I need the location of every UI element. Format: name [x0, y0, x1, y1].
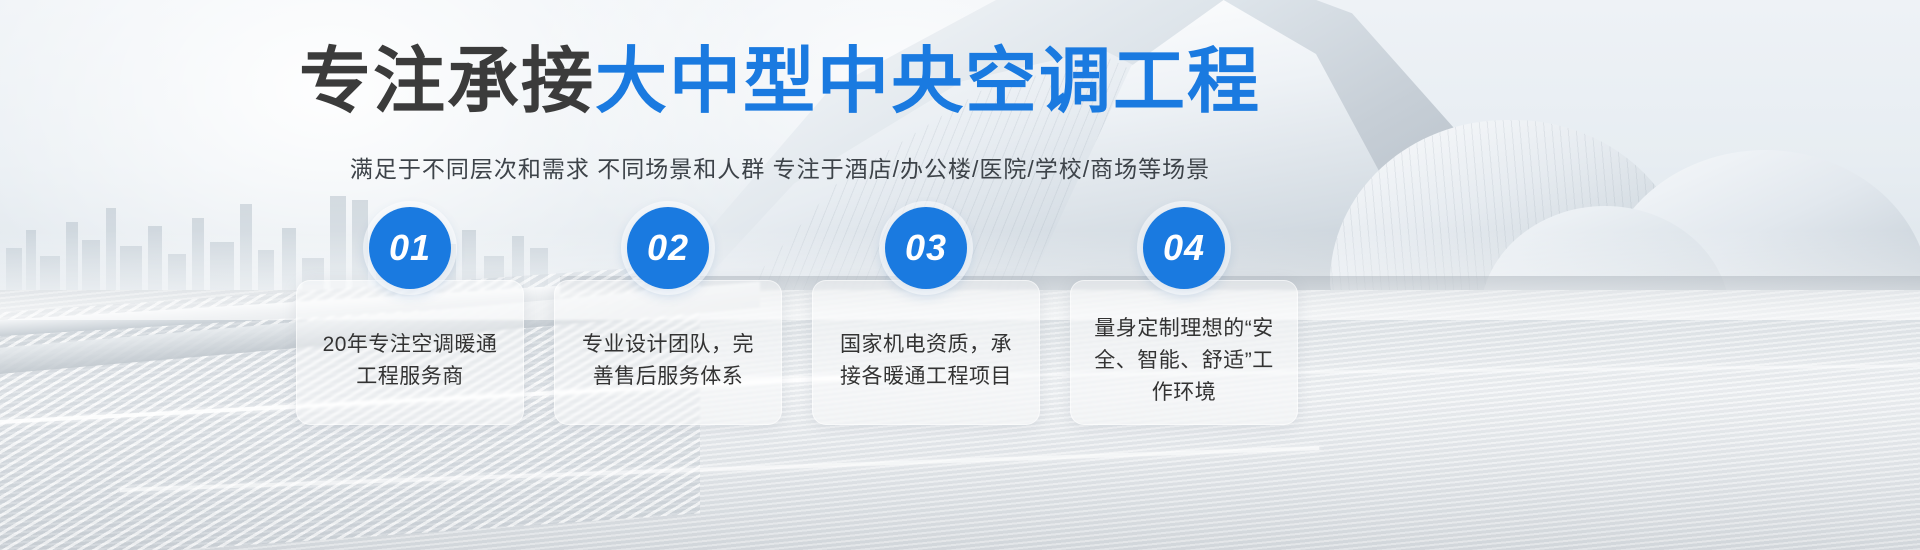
feature-card-text: 20年专注空调暖通工程服务商 [317, 313, 503, 393]
step-badge-number: 02 [647, 227, 689, 269]
feature-card-text: 专业设计团队，完善售后服务体系 [575, 313, 761, 393]
feature-card-text: 量身定制理想的“安全、智能、舒适”工作环境 [1091, 297, 1277, 409]
subtitle: 满足于不同层次和需求 不同场景和人群 专注于酒店/办公楼/医院/学校/商场等场景 [0, 152, 1560, 186]
headline-accent-text: 大中型中央空调工程 [595, 42, 1261, 122]
feature-card[interactable]: 03 国家机电资质，承接各暖通工程项目 [812, 280, 1040, 425]
headline: 专注承接大中型中央空调工程 [0, 40, 1560, 124]
step-badge-number: 04 [1163, 227, 1205, 269]
feature-card[interactable]: 01 20年专注空调暖通工程服务商 [296, 280, 524, 425]
hero-banner: 专注承接大中型中央空调工程 满足于不同层次和需求 不同场景和人群 专注于酒店/办… [0, 0, 1920, 550]
feature-card-list: 01 20年专注空调暖通工程服务商 02 专业设计团队，完善售后服务体系 03 … [296, 280, 1536, 440]
step-badge: 01 [369, 207, 451, 289]
headline-dark-text: 专注承接 [299, 42, 595, 122]
step-badge-number: 01 [389, 227, 431, 269]
step-badge: 02 [627, 207, 709, 289]
step-badge-number: 03 [905, 227, 947, 269]
step-badge: 03 [885, 207, 967, 289]
feature-card[interactable]: 04 量身定制理想的“安全、智能、舒适”工作环境 [1070, 280, 1298, 425]
step-badge: 04 [1143, 207, 1225, 289]
feature-card[interactable]: 02 专业设计团队，完善售后服务体系 [554, 280, 782, 425]
banner-content: 专注承接大中型中央空调工程 满足于不同层次和需求 不同场景和人群 专注于酒店/办… [0, 0, 1920, 550]
feature-card-text: 国家机电资质，承接各暖通工程项目 [833, 313, 1019, 393]
